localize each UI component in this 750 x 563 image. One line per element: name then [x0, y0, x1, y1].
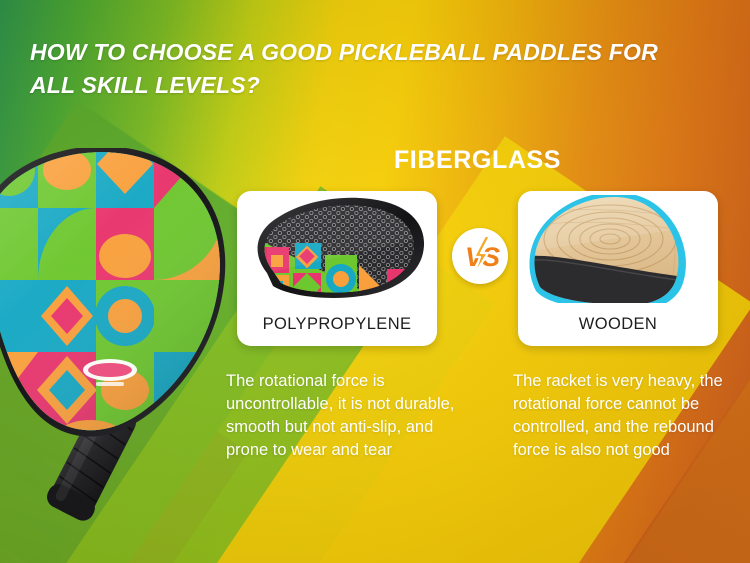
infographic-canvas: HOW TO CHOOSE A GOOD PICKLEBALL PADDLES … — [0, 0, 750, 563]
comparison-card-polypropylene[interactable]: POLYPROPYLENE — [237, 191, 437, 346]
page-title-line-2: ALL SKILL LEVELS? — [30, 69, 670, 102]
wooden-description: The racket is very heavy, the rotational… — [513, 370, 748, 462]
comparison-card-wooden[interactable]: WOODEN — [518, 191, 718, 346]
polypropylene-paddle-graphic — [237, 195, 437, 303]
page-title-line-1: HOW TO CHOOSE A GOOD PICKLEBALL PADDLES … — [30, 39, 658, 65]
wooden-card-label: WOODEN — [518, 315, 718, 334]
polypropylene-paddle-image — [237, 195, 437, 303]
section-heading: FIBERGLASS — [237, 146, 718, 175]
polypropylene-description: The rotational force is uncontrollable, … — [226, 370, 464, 462]
vs-badge: V S — [452, 228, 508, 284]
vs-icon: V S — [452, 228, 508, 284]
page-title: HOW TO CHOOSE A GOOD PICKLEBALL PADDLES … — [30, 36, 670, 101]
wooden-paddle-graphic — [518, 195, 718, 303]
wooden-paddle-image — [518, 195, 718, 303]
hero-paddle-graphic — [0, 148, 230, 528]
hero-paddle-image — [0, 148, 230, 528]
polypropylene-card-label: POLYPROPYLENE — [237, 315, 437, 334]
